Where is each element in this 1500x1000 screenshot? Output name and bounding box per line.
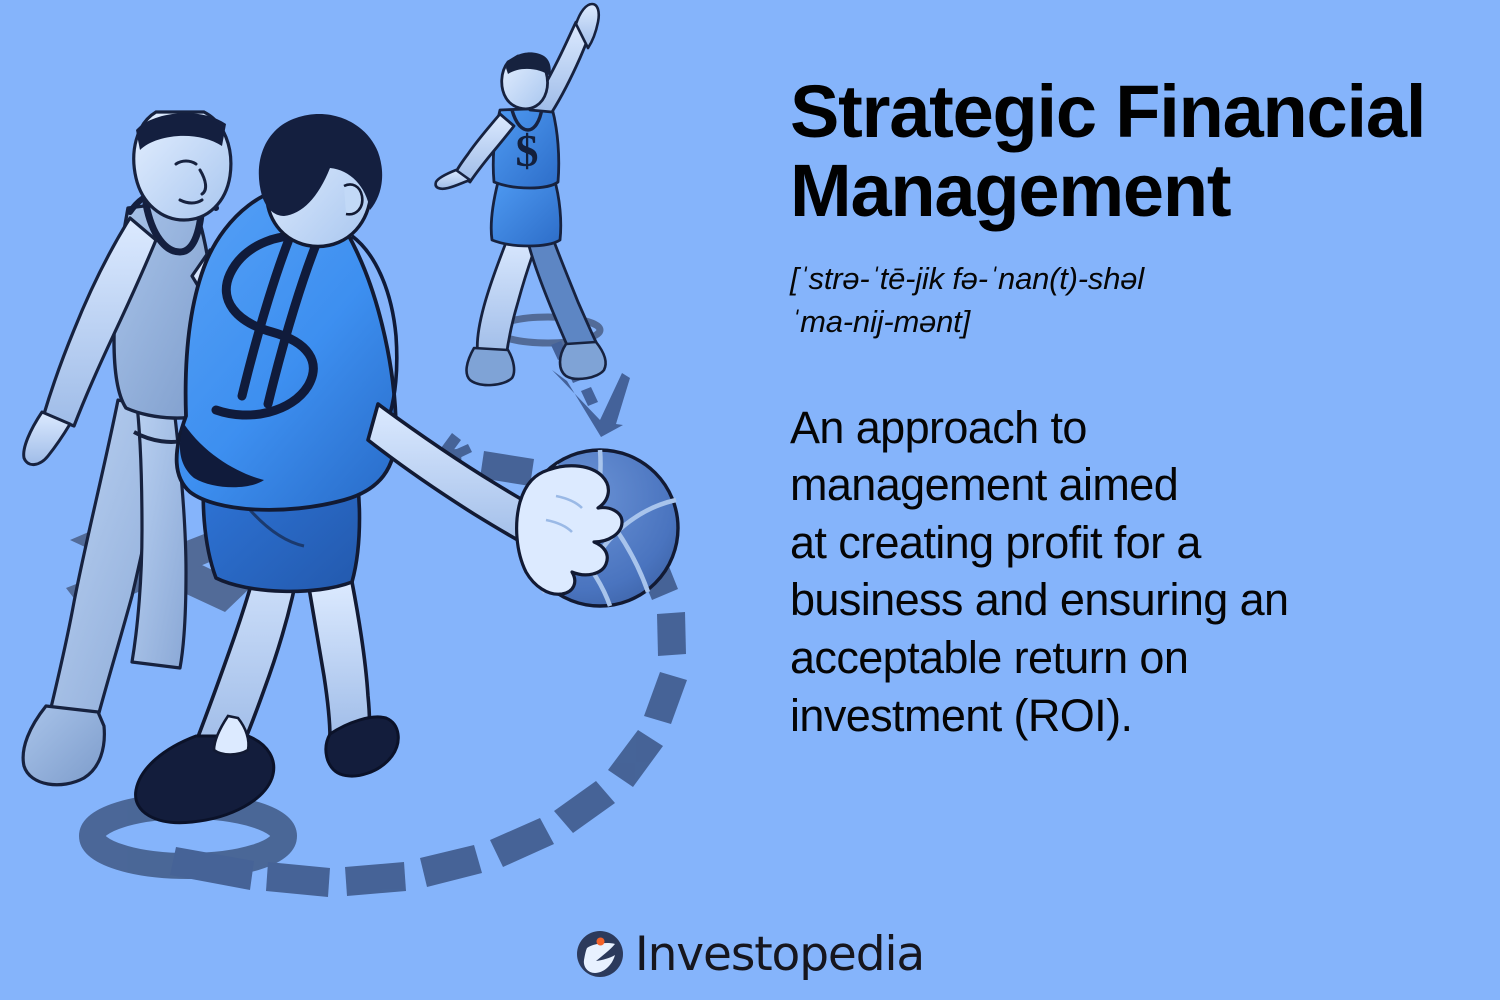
svg-text:$: $ [516, 125, 539, 176]
investopedia-circle-swoosh-icon [576, 930, 624, 978]
infographic-canvas: $ [0, 0, 1500, 1000]
definition-text: An approach to management aimed at creat… [790, 399, 1470, 745]
investopedia-logo: Investopedia [0, 930, 1500, 978]
basketball-illustration: $ [0, 0, 780, 920]
pronunciation-text: [ˈstrə-ˈtē-jik fə-ˈnan(t)-shəl ˈma-nij-m… [790, 258, 1470, 342]
text-column: Strategic Financial Management [ˈstrə-ˈt… [790, 72, 1470, 744]
brand-wordmark: Investopedia [635, 931, 924, 978]
page-title: Strategic Financial Management [790, 72, 1470, 230]
